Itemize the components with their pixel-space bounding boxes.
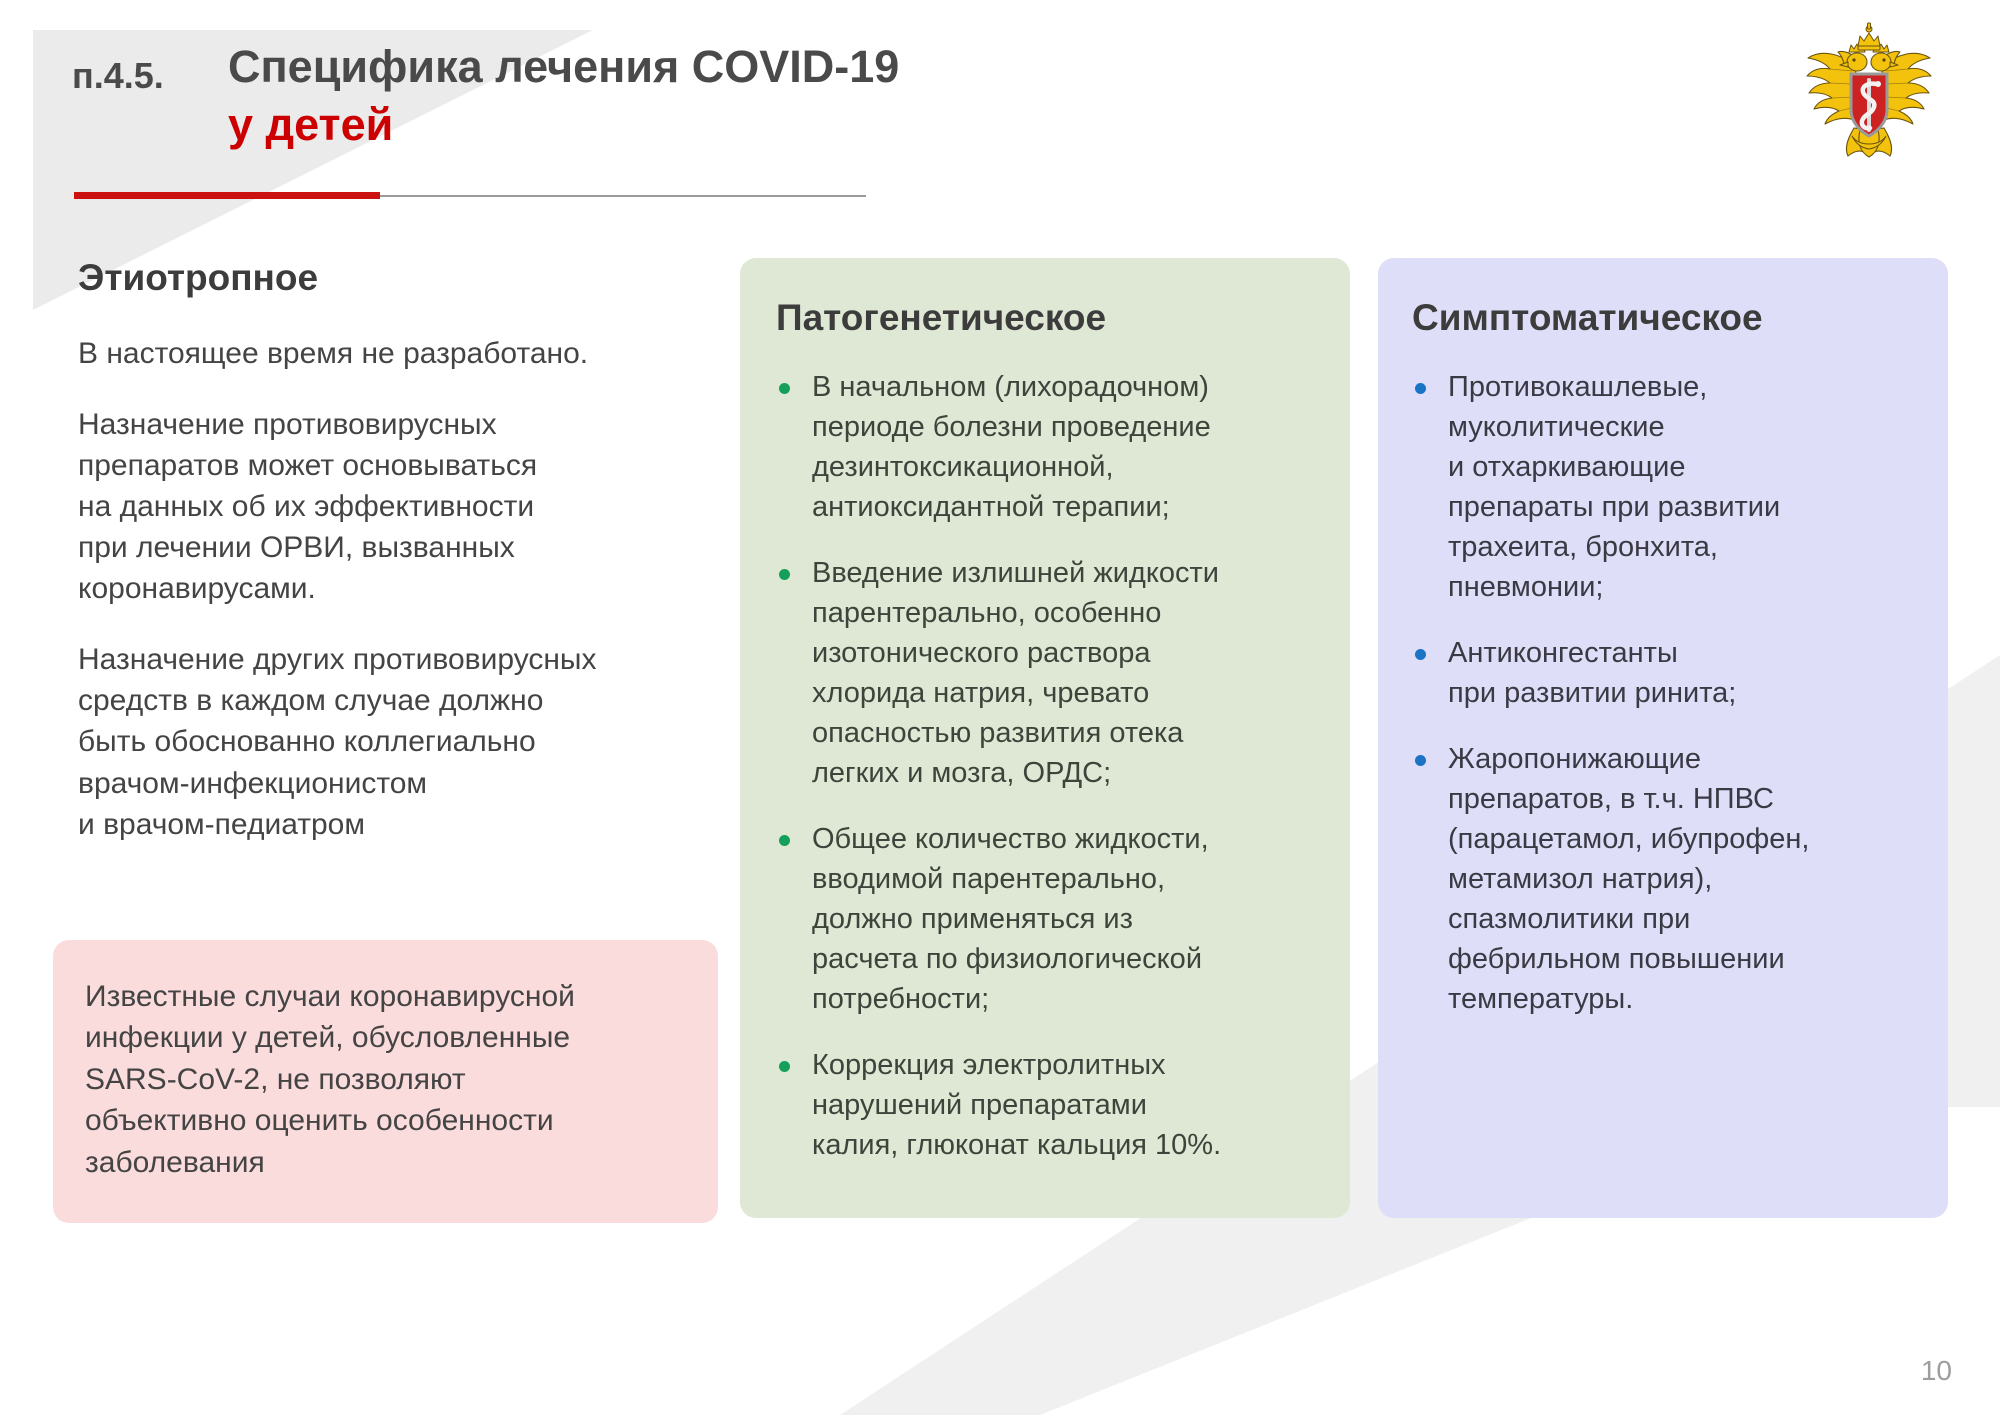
column-heading-symptomatic: Симптоматическое bbox=[1412, 298, 1918, 339]
etiotropic-paragraph-3: Назначение других противовирусных средст… bbox=[78, 639, 743, 844]
page-number: 10 bbox=[1921, 1355, 1952, 1387]
symptomatic-bullet-list: Противокашлевые, муколитические и отхарк… bbox=[1412, 367, 1918, 1019]
slide-header: п.4.5. Специфика лечения COVID-19 у дете… bbox=[0, 0, 2000, 220]
page-title: Специфика лечения COVID-19 bbox=[228, 40, 899, 95]
etiotropic-paragraph-2: Назначение противовирусных препаратов мо… bbox=[78, 404, 743, 609]
section-number: п.4.5. bbox=[72, 55, 164, 97]
page-subtitle: у детей bbox=[228, 98, 393, 153]
list-item: Общее количество жидкости, вводимой паре… bbox=[776, 819, 1316, 1019]
column-etiotropic: Этиотропное В настоящее время не разрабо… bbox=[53, 258, 753, 845]
alert-box-text: Известные случаи коронавирусной инфекции… bbox=[85, 976, 678, 1183]
russian-ministry-of-health-emblem-icon bbox=[1794, 18, 1944, 168]
list-item: Противокашлевые, муколитические и отхарк… bbox=[1412, 367, 1918, 607]
title-underline-gray bbox=[380, 195, 866, 197]
etiotropic-paragraph-1: В настоящее время не разработано. bbox=[78, 333, 743, 374]
title-underline-red bbox=[74, 192, 380, 199]
slide-root: п.4.5. Специфика лечения COVID-19 у дете… bbox=[0, 0, 2000, 1415]
column-heading-etiotropic: Этиотропное bbox=[78, 258, 743, 299]
column-symptomatic: Симптоматическое Противокашлевые, муколи… bbox=[1378, 258, 1948, 1218]
column-pathogenetic: Патогенетическое В начальном (лихорадочн… bbox=[740, 258, 1350, 1218]
pathogenetic-bullet-list: В начальном (лихорадочном) периоде болез… bbox=[776, 367, 1316, 1165]
list-item: В начальном (лихорадочном) периоде болез… bbox=[776, 367, 1316, 527]
alert-box-known-cases: Известные случаи коронавирусной инфекции… bbox=[53, 940, 718, 1223]
column-heading-pathogenetic: Патогенетическое bbox=[776, 298, 1316, 339]
list-item: Жаропонижающие препаратов, в т.ч. НПВС (… bbox=[1412, 739, 1918, 1019]
list-item: Антиконгестанты при развитии ринита; bbox=[1412, 633, 1918, 713]
list-item: Введение излишней жидкости парентерально… bbox=[776, 553, 1316, 793]
list-item: Коррекция электролитных нарушений препар… bbox=[776, 1045, 1316, 1165]
